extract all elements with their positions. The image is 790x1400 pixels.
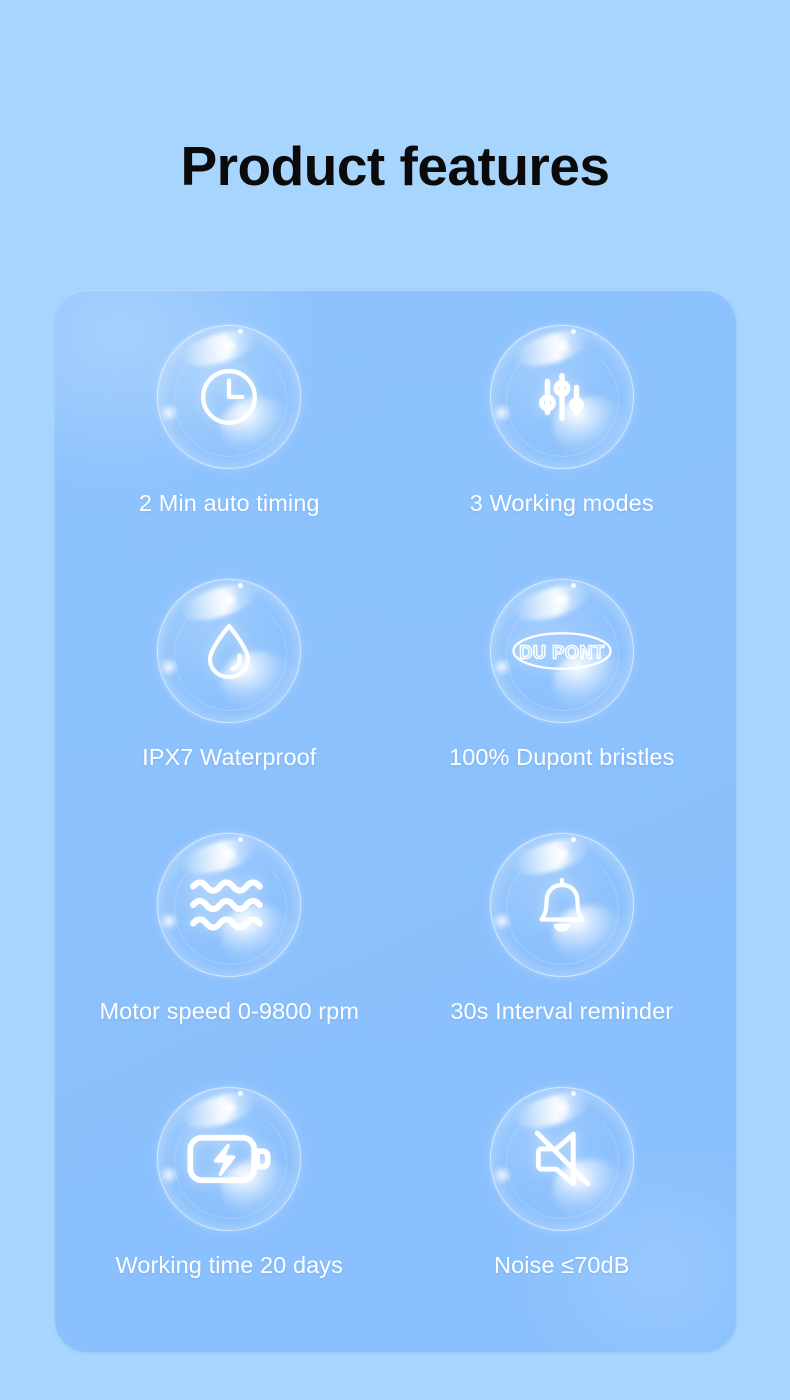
feature-label: Noise ≤70dB (494, 1252, 630, 1279)
feature-item-auto-timing: 2 Min auto timing (63, 314, 396, 568)
bubble-sparkle-left (159, 1165, 179, 1185)
bubble-auto-timing (156, 324, 302, 470)
bubble-interval-reminder (489, 832, 635, 978)
bubble-sparkle-top (553, 591, 571, 609)
waves-icon (187, 867, 271, 943)
bubble-sparkle-top (220, 845, 238, 863)
features-card: 2 Min auto timing (55, 290, 736, 1352)
mute-speaker-icon (525, 1122, 599, 1196)
bubble-motor-speed (156, 832, 302, 978)
dupont-logo-text: DU PONT (519, 642, 604, 662)
feature-item-interval-reminder: 30s Interval reminder (396, 822, 729, 1076)
bubble-sparkle-dot (571, 1091, 576, 1096)
bubble-sparkle-dot (238, 583, 243, 588)
bubble-sparkle-dot (238, 1091, 243, 1096)
feature-item-motor-speed: Motor speed 0-9800 rpm (63, 822, 396, 1076)
feature-label: 3 Working modes (470, 490, 654, 517)
feature-label: 2 Min auto timing (139, 490, 320, 517)
bubble-sparkle-left (159, 911, 179, 931)
bubble-waterproof (156, 578, 302, 724)
battery-charging-icon (184, 1127, 274, 1191)
bubble-working-modes (489, 324, 635, 470)
bubble-sparkle-dot (571, 329, 576, 334)
feature-item-working-time: Working time 20 days (63, 1076, 396, 1330)
feature-item-waterproof: IPX7 Waterproof (63, 568, 396, 822)
sliders-icon (524, 359, 600, 435)
bubble-dupont-bristles: DU PONT (489, 578, 635, 724)
dupont-logo-icon: DU PONT (510, 623, 614, 679)
feature-label: Motor speed 0-9800 rpm (99, 998, 359, 1025)
feature-label: Working time 20 days (115, 1252, 343, 1279)
bubble-sparkle-dot (238, 329, 243, 334)
bubble-sparkle-top (553, 337, 571, 355)
bubble-sparkle-top (220, 337, 238, 355)
bubble-noise (489, 1086, 635, 1232)
features-grid: 2 Min auto timing (55, 290, 736, 1352)
feature-label: 100% Dupont bristles (449, 744, 674, 771)
water-drop-icon (191, 613, 267, 689)
bell-icon (524, 867, 600, 943)
bubble-sparkle-left (492, 657, 512, 677)
bubble-sparkle-dot (571, 583, 576, 588)
bubble-sparkle-top (220, 1099, 238, 1117)
feature-item-working-modes: 3 Working modes (396, 314, 729, 568)
bubble-sparkle-left (492, 911, 512, 931)
bubble-sparkle-dot (238, 837, 243, 842)
product-features-page: Product features (0, 0, 790, 1400)
feature-item-dupont-bristles: DU PONT 100% Dupont bristles (396, 568, 729, 822)
feature-item-noise: Noise ≤70dB (396, 1076, 729, 1330)
feature-label: IPX7 Waterproof (142, 744, 316, 771)
bubble-sparkle-top (553, 1099, 571, 1117)
bubble-highlight-top (511, 578, 592, 627)
page-title: Product features (0, 131, 790, 201)
clock-icon (191, 359, 267, 435)
bubble-sparkle-left (492, 1165, 512, 1185)
bubble-sparkle-top (220, 591, 238, 609)
feature-label: 30s Interval reminder (450, 998, 673, 1025)
bubble-sparkle-dot (571, 837, 576, 842)
bubble-working-time (156, 1086, 302, 1232)
bubble-sparkle-left (159, 403, 179, 423)
bubble-sparkle-top (553, 845, 571, 863)
bubble-sparkle-left (492, 403, 512, 423)
bubble-sparkle-left (159, 657, 179, 677)
